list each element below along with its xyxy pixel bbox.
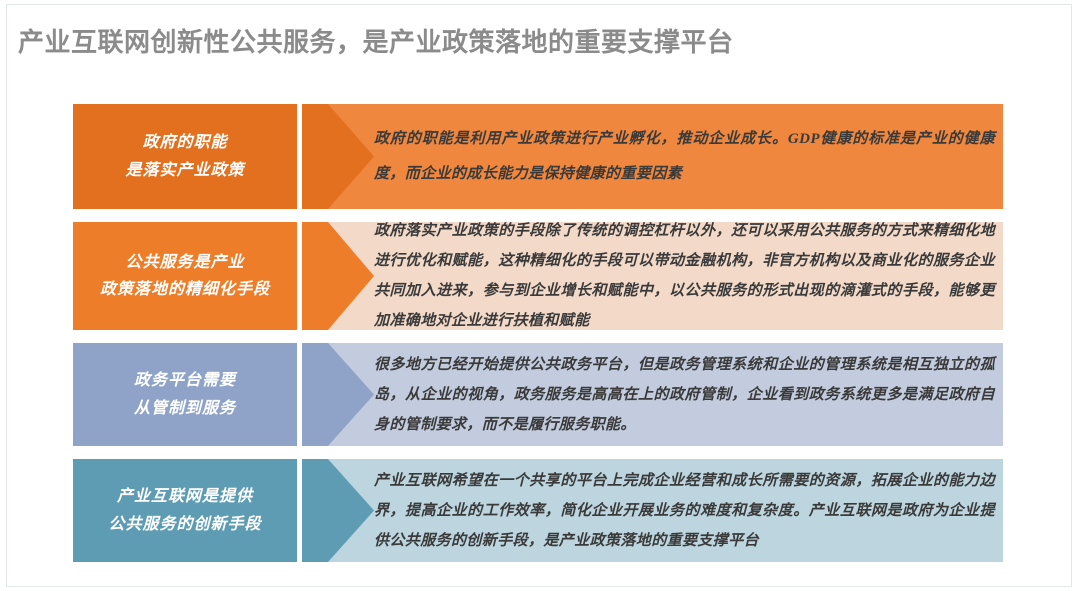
row-description-text: 产业互联网希望在一个共享的平台上完成企业经营和成长所需要的资源，拓展企业的能力边…: [374, 466, 995, 556]
process-row: 政府的职能 是落实产业政策政府的职能是利用产业政策进行产业孵化，推动企业成长。G…: [73, 104, 1003, 209]
row-description: 政府落实产业政策的手段除了传统的调控杠杆以外，还可以采用公共服务的方式来精细化地…: [374, 222, 1003, 330]
chevron-right-arrow-icon: [302, 459, 374, 562]
process-row: 公共服务是产业 政策落地的精细化手段政府落实产业政策的手段除了传统的调控杠杆以外…: [73, 222, 1003, 330]
row-label-text: 政务平台需要 从管制到服务: [134, 367, 236, 421]
row-label-block[interactable]: 产业互联网是提供 公共服务的创新手段: [73, 459, 297, 562]
process-row: 产业互联网是提供 公共服务的创新手段产业互联网希望在一个共享的平台上完成企业经营…: [73, 459, 1003, 562]
row-description-text: 政府落实产业政策的手段除了传统的调控杠杆以外，还可以采用公共服务的方式来精细化地…: [374, 216, 995, 336]
chevron-right-arrow-icon: [302, 343, 374, 446]
row-description-text: 政府的职能是利用产业政策进行产业孵化，推动企业成长。GDP健康的标准是产业的健康…: [374, 122, 995, 191]
chevron-right-arrow-icon: [302, 104, 374, 209]
process-rows-container: 政府的职能 是落实产业政策政府的职能是利用产业政策进行产业孵化，推动企业成长。G…: [73, 104, 1003, 562]
row-description-text: 很多地方已经开始提供公共政务平台，但是政务管理系统和企业的管理系统是相互独立的孤…: [374, 350, 995, 440]
chevron-right-arrow-icon: [302, 222, 374, 330]
row-label-text: 产业互联网是提供 公共服务的创新手段: [108, 483, 261, 537]
row-label-text: 公共服务是产业 政策落地的精细化手段: [100, 249, 270, 303]
row-description: 政府的职能是利用产业政策进行产业孵化，推动企业成长。GDP健康的标准是产业的健康…: [374, 104, 1003, 209]
row-label-block[interactable]: 政府的职能 是落实产业政策: [73, 104, 297, 209]
page-title: 产业互联网创新性公共服务，是产业政策落地的重要支撑平台: [18, 22, 734, 59]
process-row: 政务平台需要 从管制到服务很多地方已经开始提供公共政务平台，但是政务管理系统和企…: [73, 343, 1003, 446]
row-description: 产业互联网希望在一个共享的平台上完成企业经营和成长所需要的资源，拓展企业的能力边…: [374, 459, 1003, 562]
slide-canvas: 产业互联网创新性公共服务，是产业政策落地的重要支撑平台 政府的职能 是落实产业政…: [0, 0, 1080, 591]
row-description: 很多地方已经开始提供公共政务平台，但是政务管理系统和企业的管理系统是相互独立的孤…: [374, 343, 1003, 446]
row-label-block[interactable]: 政务平台需要 从管制到服务: [73, 343, 297, 446]
row-label-block[interactable]: 公共服务是产业 政策落地的精细化手段: [73, 222, 297, 330]
row-label-text: 政府的职能 是落实产业政策: [125, 129, 244, 183]
